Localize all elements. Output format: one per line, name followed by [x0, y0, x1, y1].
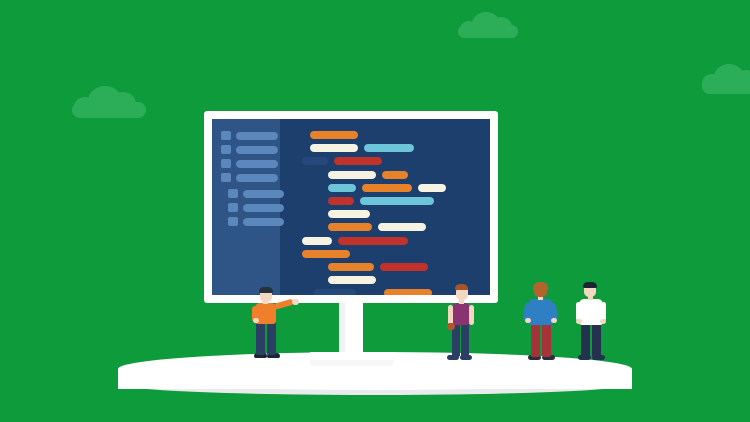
monitor-stand-neck — [345, 303, 363, 357]
hand-right — [600, 319, 606, 324]
arm-right — [469, 305, 474, 325]
leg-left — [256, 321, 265, 355]
code-line — [328, 210, 370, 218]
sidebar-item-icon — [221, 159, 231, 168]
hand-left — [576, 319, 582, 324]
code-line — [310, 131, 358, 139]
code-line — [328, 276, 376, 284]
person-man-blue[interactable] — [524, 281, 570, 361]
sidebar-item-icon — [228, 203, 238, 212]
cloud-left-icon — [72, 86, 148, 118]
arm-left — [448, 305, 453, 325]
sidebar-item-label — [243, 204, 284, 212]
code-line — [328, 197, 354, 205]
sidebar-item-icon — [221, 131, 231, 140]
sidebar-item-icon — [228, 189, 238, 198]
sidebar-item-label — [236, 174, 278, 182]
code-line — [328, 263, 374, 271]
code-line — [314, 289, 356, 295]
monitor-screen — [212, 119, 490, 295]
hand-extended — [292, 299, 299, 305]
leg-right — [592, 323, 601, 357]
sidebar-item-label — [243, 190, 284, 198]
sidebar-item-3[interactable] — [212, 159, 280, 168]
sidebar-item-label — [236, 160, 278, 168]
torso-shirt — [528, 299, 553, 325]
leg-right — [461, 323, 469, 357]
hand-left — [525, 318, 531, 323]
code-line — [328, 223, 372, 231]
illustration-scene — [0, 0, 750, 422]
person-man-white[interactable] — [576, 281, 622, 361]
leg-left — [531, 323, 540, 357]
cloud-far-right-icon — [702, 64, 750, 94]
hair-front — [455, 284, 468, 290]
code-line — [302, 250, 350, 258]
monitor-stand-base — [310, 352, 394, 360]
code-editor-sidebar[interactable] — [212, 119, 280, 295]
sidebar-item-7[interactable] — [212, 217, 280, 226]
sidebar-item-5[interactable] — [212, 189, 280, 198]
sidebar-item-icon — [221, 173, 231, 182]
hand-hip — [253, 318, 259, 323]
sidebar-item-1[interactable] — [212, 131, 280, 140]
code-line — [328, 171, 376, 179]
code-line — [338, 237, 408, 245]
sidebar-item-icon — [228, 217, 238, 226]
hair — [259, 287, 273, 293]
code-line — [328, 184, 356, 192]
sidebar-item-label — [236, 146, 278, 154]
code-line — [380, 263, 428, 271]
code-line — [310, 144, 358, 152]
code-line — [418, 184, 446, 192]
hair — [533, 282, 548, 292]
code-line — [334, 157, 382, 165]
code-line — [364, 144, 414, 152]
sidebar-item-6[interactable] — [212, 203, 280, 212]
handbag — [447, 323, 455, 330]
arm-extended — [273, 299, 294, 310]
code-line — [362, 184, 412, 192]
code-editor-content[interactable] — [280, 119, 490, 295]
code-line — [382, 171, 408, 179]
leg-right — [542, 323, 551, 357]
torso-top — [452, 303, 470, 325]
hand-right — [551, 318, 557, 323]
sidebar-item-4[interactable] — [212, 173, 280, 182]
person-developer-orange[interactable] — [252, 287, 298, 367]
sidebar-item-label — [236, 132, 278, 140]
sidebar-item-2[interactable] — [212, 145, 280, 154]
desktop-monitor — [204, 111, 498, 303]
cloud-top-right-icon — [458, 12, 520, 38]
code-line — [302, 157, 328, 165]
leg-left — [581, 323, 590, 357]
code-line — [384, 289, 432, 295]
hair — [583, 282, 597, 288]
code-line — [360, 197, 434, 205]
sidebar-item-icon — [221, 145, 231, 154]
leg-right — [267, 321, 276, 355]
code-line — [378, 223, 426, 231]
sidebar-item-label — [243, 218, 284, 226]
code-line — [302, 237, 332, 245]
person-woman-purple[interactable] — [447, 283, 493, 363]
